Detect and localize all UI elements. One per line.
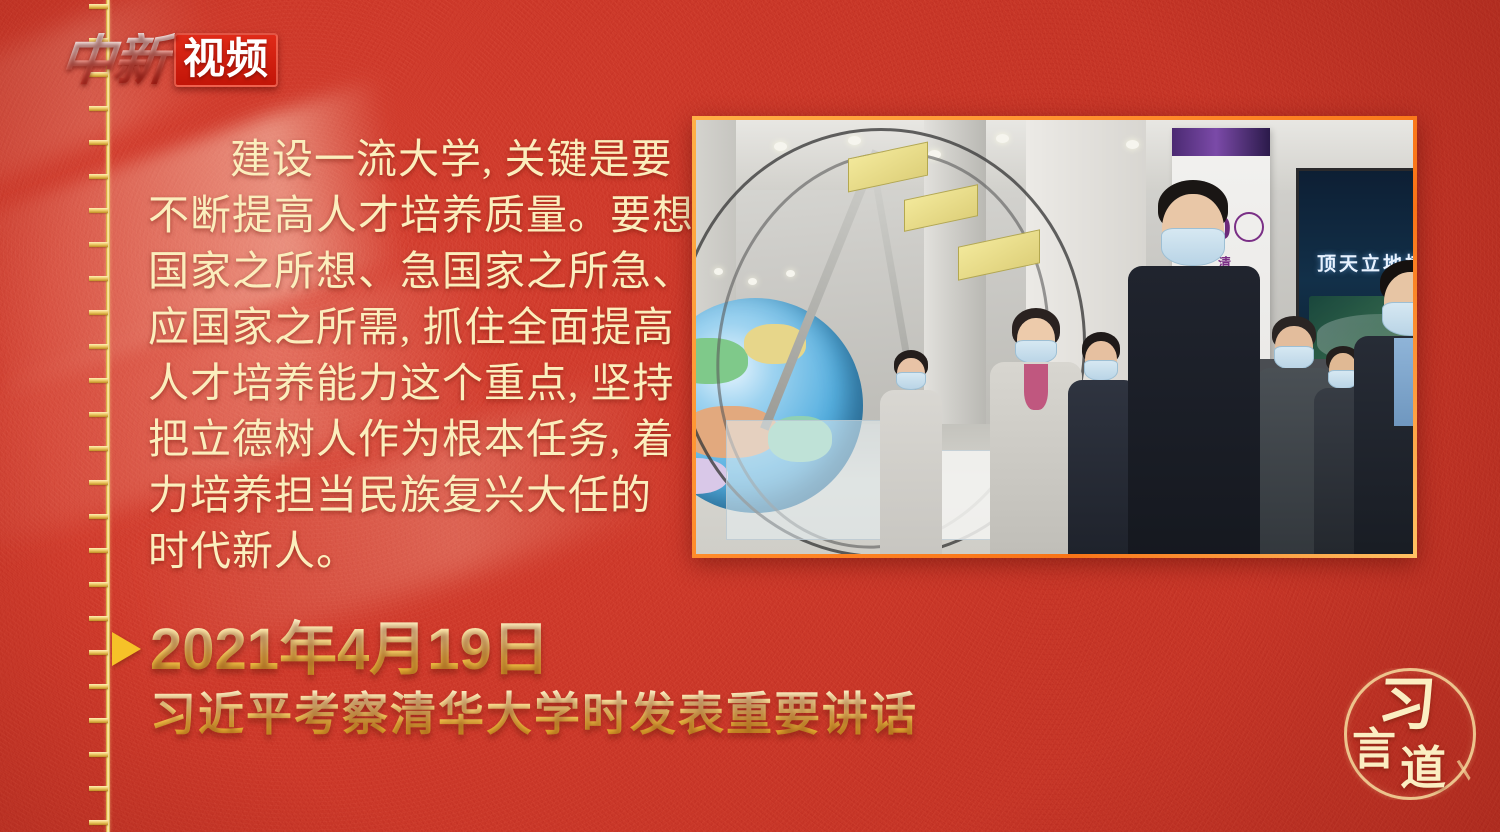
- ruler-tick: [89, 276, 108, 281]
- quote-line: 不断提高人才培养质量。要想: [148, 187, 628, 243]
- ruler-tick: [89, 752, 108, 757]
- ruler-tick: [89, 140, 108, 145]
- ruler-tick: [89, 4, 108, 9]
- quote-block: 建设一流大学, 关键是要 不断提高人才培养质量。要想 国家之所想、急国家之所急、…: [148, 131, 628, 579]
- ruler-tick: [89, 106, 108, 111]
- photo-content: 110 TSINGHUA 110th ANNIV 清华大学 110 顶天立地树人: [696, 120, 1413, 554]
- seal-char-yan: 言: [1352, 728, 1396, 772]
- ruler-tick: [89, 616, 108, 621]
- ruler-tick: [89, 344, 108, 349]
- caption-subtitle: 习近平考察清华大学时发表重要讲话: [150, 688, 918, 741]
- quote-line: 时代新人。: [148, 523, 628, 579]
- quote-line: 力培养担当民族复兴大任的: [148, 467, 628, 523]
- photo-ceiling-light: [996, 134, 1009, 143]
- seal-char-dao: 道: [1400, 746, 1446, 792]
- quote-line: 人才培养能力这个重点, 坚持: [148, 355, 628, 411]
- ruler-tick: [89, 650, 108, 655]
- logo-badge: 视频: [174, 33, 278, 87]
- bullet-triangle-icon: [112, 632, 141, 666]
- quote-line: 国家之所想、急国家之所急、: [148, 243, 628, 299]
- ruler-tick: [89, 242, 108, 247]
- ruler-decoration: [0, 0, 115, 832]
- news-photo: 110 TSINGHUA 110th ANNIV 清华大学 110 顶天立地树人: [692, 116, 1417, 558]
- photo-banner-header: [1172, 128, 1270, 156]
- ruler-tick: [89, 378, 108, 383]
- ruler-tick: [89, 548, 108, 553]
- ruler-tick: [89, 582, 108, 587]
- ruler-tick: [89, 718, 108, 723]
- ruler-tick: [89, 208, 108, 213]
- photo-ceiling-light: [774, 142, 787, 151]
- logo-calligraphy: 中新: [57, 33, 175, 88]
- ruler-tick: [89, 786, 108, 791]
- photo-person-guide: [1354, 260, 1413, 554]
- quote-line: 把立德树人作为根本任务, 着: [148, 411, 628, 467]
- quote-line: 建设一流大学, 关键是要: [148, 131, 628, 187]
- photo-person: [876, 350, 946, 554]
- ruler-tick: [89, 820, 108, 825]
- ruler-tick: [89, 174, 108, 179]
- photo-person-main: [1128, 180, 1260, 554]
- ruler-tick: [89, 412, 108, 417]
- logo-badge-label: 视频: [183, 37, 269, 81]
- ruler-tick: [89, 446, 108, 451]
- ruler-tick: [89, 514, 108, 519]
- program-seal-logo: 习 言 道: [1334, 658, 1486, 810]
- ruler-tick: [89, 684, 108, 689]
- photo-ceiling-light: [1126, 140, 1139, 149]
- video-frame: 中新 视频 建设一流大学, 关键是要 不断提高人才培养质量。要想 国家之所想、急…: [0, 0, 1500, 832]
- ruler-tick: [89, 480, 108, 485]
- channel-logo: 中新 视频: [60, 27, 278, 93]
- quote-line: 应国家之所需, 抓住全面提高: [148, 299, 628, 355]
- ruler-tick: [89, 310, 108, 315]
- caption-date: 2021年4月19日: [150, 618, 550, 682]
